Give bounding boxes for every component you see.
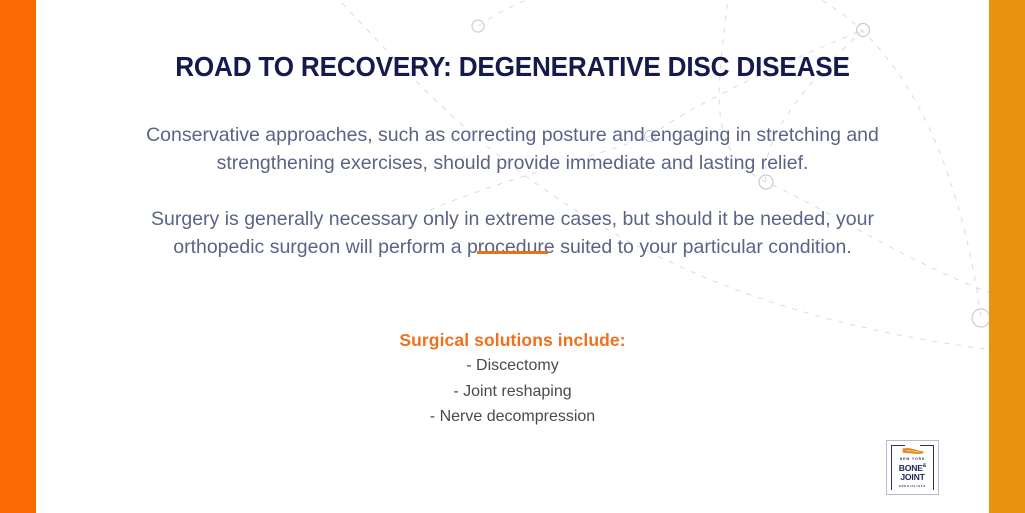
brand-logo: NEW YORK BONE& JOINT SPECIALISTS <box>886 440 939 495</box>
left-accent-bar <box>0 0 36 513</box>
paragraph-conservative-approaches: Conservative approaches, such as correct… <box>132 121 893 177</box>
logo-ampersand: & <box>923 463 926 469</box>
logo-joint-text: JOINT <box>900 473 924 482</box>
list-item: - Discectomy <box>36 353 989 379</box>
bone-icon <box>902 447 924 456</box>
sub-heading-surgical-solutions: Surgical solutions include: <box>36 330 989 351</box>
slide-title: ROAD TO RECOVERY: DEGENERATIVE DISC DISE… <box>60 51 965 83</box>
logo-new-york-text: NEW YORK <box>900 457 925 461</box>
list-item: - Joint reshaping <box>36 379 989 405</box>
list-item: - Nerve decompression <box>36 404 989 430</box>
logo-frame: NEW YORK BONE& JOINT SPECIALISTS <box>891 445 934 490</box>
surgical-solutions-list: - Discectomy - Joint reshaping - Nerve d… <box>36 353 989 430</box>
logo-specialists-text: SPECIALISTS <box>899 484 926 488</box>
orange-divider <box>477 251 548 254</box>
slide-canvas: ROAD TO RECOVERY: DEGENERATIVE DISC DISE… <box>0 0 1025 513</box>
slide-content: ROAD TO RECOVERY: DEGENERATIVE DISC DISE… <box>36 0 989 513</box>
right-accent-bar <box>989 0 1025 513</box>
